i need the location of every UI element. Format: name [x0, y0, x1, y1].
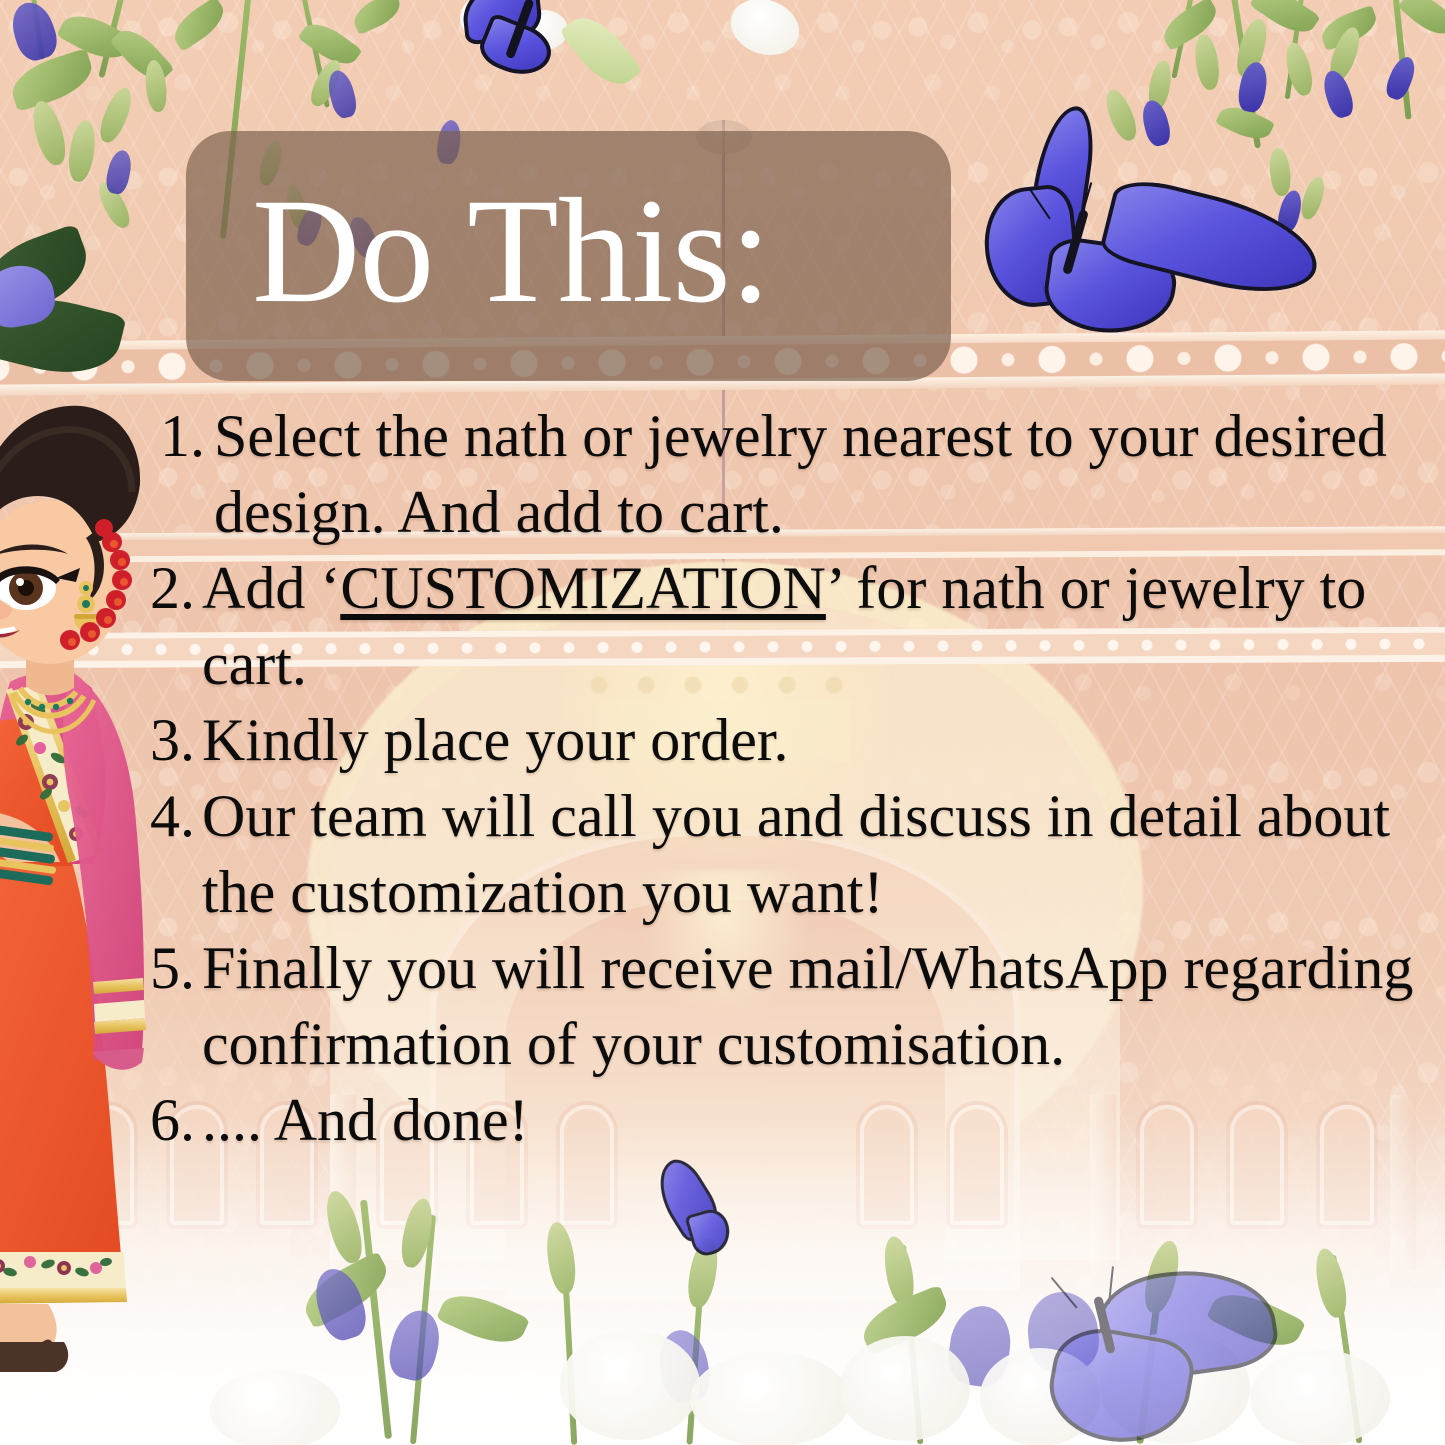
list-item-text: Kindly place your order. [202, 702, 1440, 778]
list-item-number: 6. [150, 1082, 202, 1158]
title-pill: Do This: [186, 131, 951, 381]
list-item-text: Our team will call you and discuss in de… [202, 778, 1440, 930]
list-item: 2. Add ‘CUSTOMIZATION’ for nath or jewel… [150, 550, 1440, 702]
page-title: Do This: [186, 176, 770, 326]
list-item-number: 3. [150, 702, 202, 778]
list-item-text-pre: Add ‘ [202, 555, 340, 621]
list-item-text: Finally you will receive mail/WhatsApp r… [202, 930, 1440, 1082]
list-item: 4. Our team will call you and discuss in… [150, 778, 1440, 930]
list-item-text: .... And done! [202, 1082, 1440, 1158]
list-item-text: Select the nath or jewelry nearest to yo… [214, 398, 1440, 550]
poster-canvas: Do This: 1. Select the nath or jewelry n… [0, 0, 1445, 1445]
list-item: 5. Finally you will receive mail/WhatsAp… [150, 930, 1440, 1082]
list-item: 1. Select the nath or jewelry nearest to… [150, 398, 1440, 550]
list-item-text: Add ‘CUSTOMIZATION’ for nath or jewelry … [202, 550, 1440, 702]
customization-emphasis: CUSTOMIZATION [340, 555, 826, 621]
maharashtrian-bride-illustration [0, 392, 174, 1445]
list-item-number: 2. [150, 550, 202, 626]
list-item-number: 4. [150, 778, 202, 854]
list-item: 6. .... And done! [150, 1082, 1440, 1158]
list-item: 3. Kindly place your order. [150, 702, 1440, 778]
list-item-number: 5. [150, 930, 202, 1006]
instruction-list: 1. Select the nath or jewelry nearest to… [150, 398, 1440, 1158]
list-item-number: 1. [150, 398, 214, 474]
